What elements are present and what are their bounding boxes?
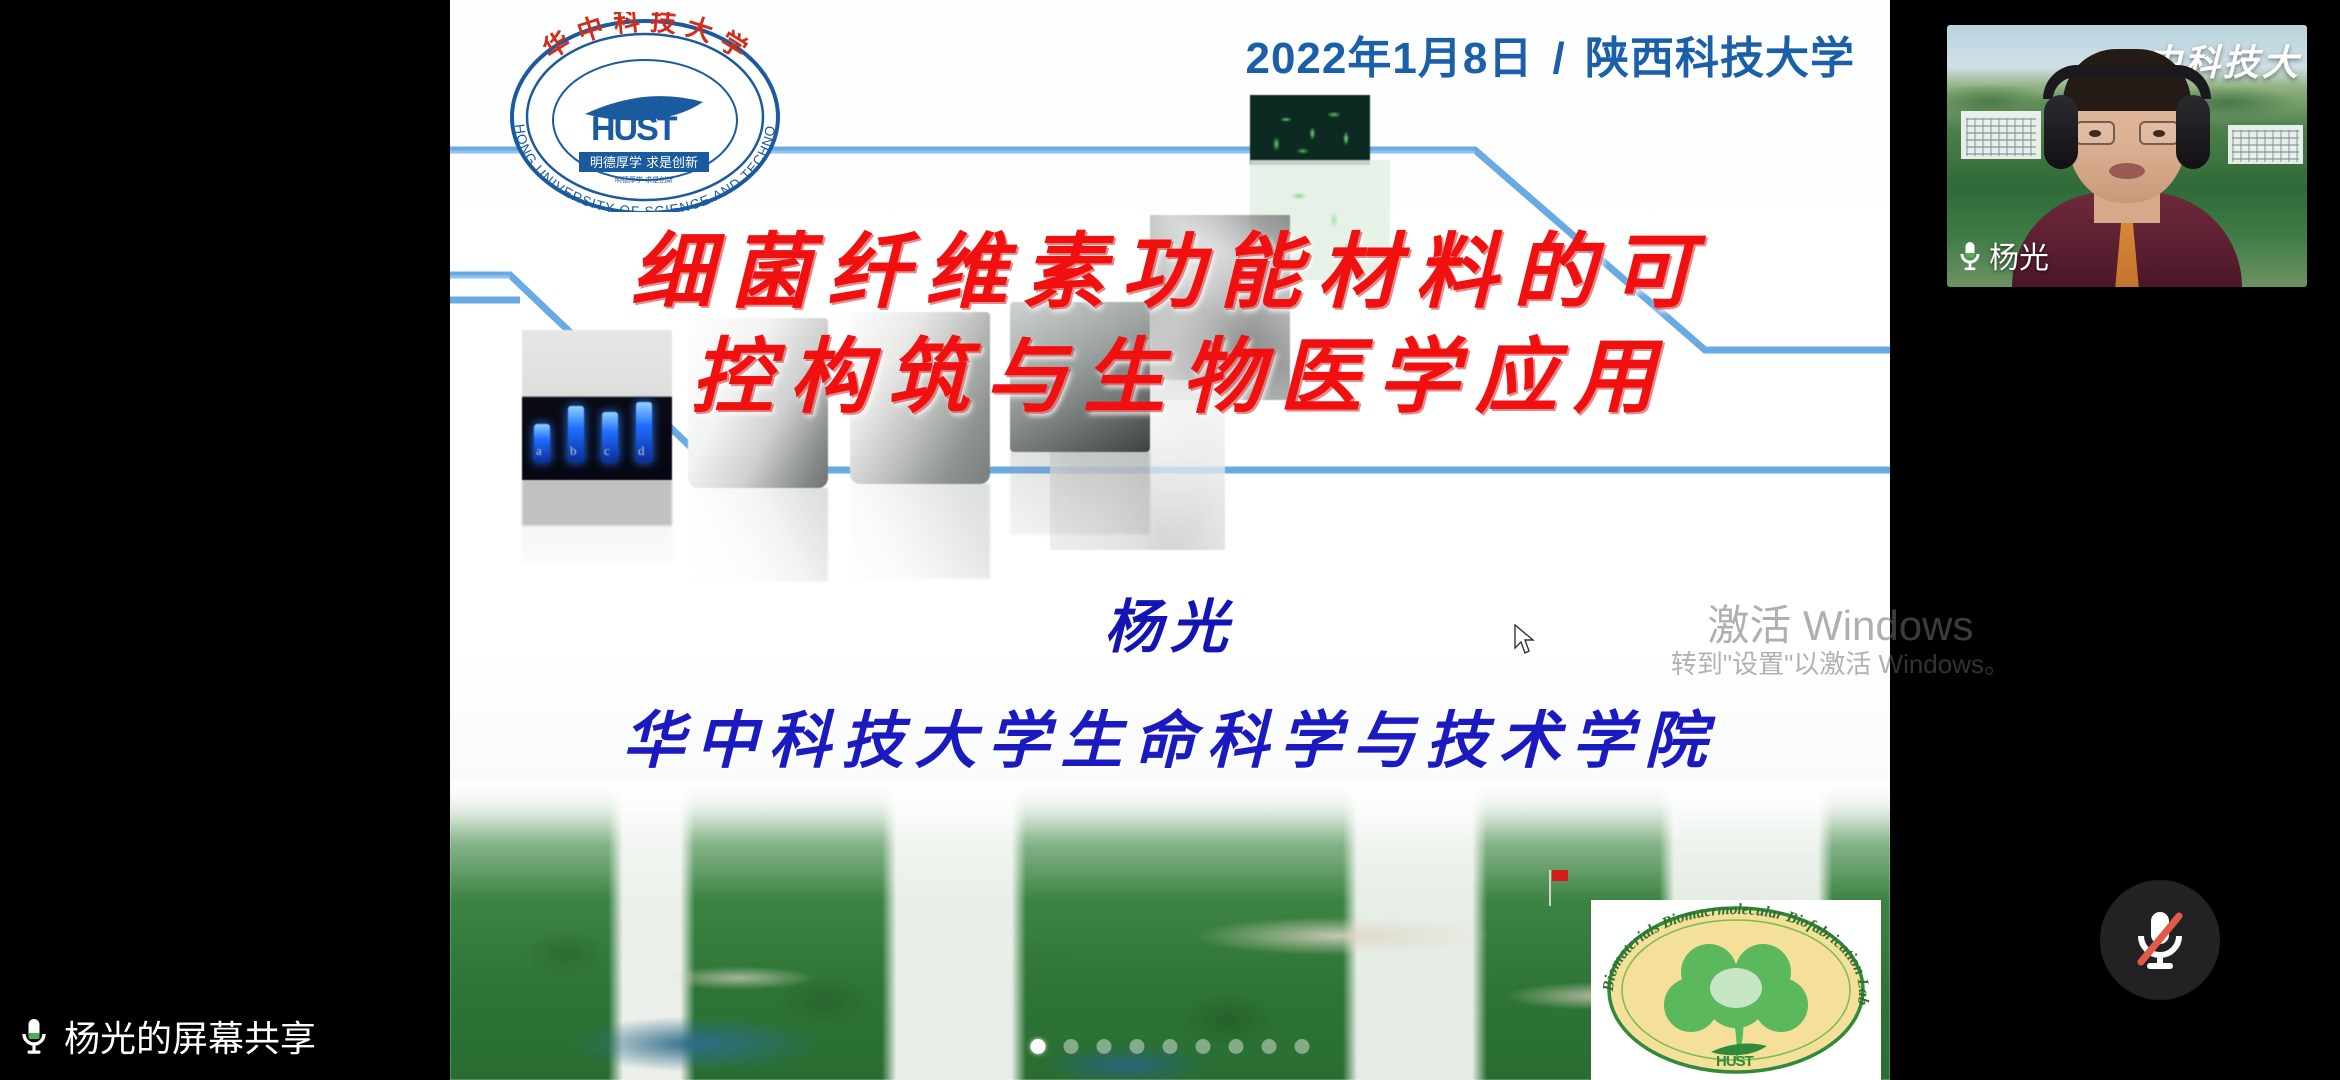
pagination-dot-2[interactable] bbox=[1064, 1039, 1079, 1054]
participant-video-thumbnail[interactable]: 中科技大 bbox=[1947, 25, 2307, 287]
microphone-icon bbox=[1957, 239, 1983, 271]
slide-title-line-2: 控构筑与生物医学应用 bbox=[450, 325, 1890, 430]
microphone-icon bbox=[18, 1016, 50, 1056]
presenter-name: 杨光 bbox=[450, 580, 1890, 664]
mouse-cursor bbox=[1513, 624, 1535, 656]
gel-label-c: c bbox=[604, 443, 610, 459]
headphone-band bbox=[2043, 65, 2211, 99]
pagination-dot-6[interactable] bbox=[1196, 1039, 1211, 1054]
headphone-earcup-left bbox=[2044, 95, 2078, 169]
participant-name-label: 杨光 bbox=[1989, 233, 2049, 277]
mute-toggle-button[interactable] bbox=[2100, 880, 2220, 1000]
gel-label-d: d bbox=[638, 443, 645, 459]
participant-glasses bbox=[2075, 121, 2179, 145]
bacteria-micrograph-thumb bbox=[1250, 95, 1370, 165]
participant-mouth bbox=[2109, 163, 2145, 179]
pagination-dot-8[interactable] bbox=[1262, 1039, 1277, 1054]
screen-share-status: 杨光的屏幕共享 bbox=[18, 1010, 316, 1062]
biofabrication-lab-logo: Biomaterials Biomacrmolecular Biofabrica… bbox=[1591, 900, 1881, 1080]
gel-label-b: b bbox=[570, 443, 577, 459]
screen-share-label: 杨光的屏幕共享 bbox=[64, 1010, 316, 1062]
slide-title: 细菌纤维素功能材料的可 控构筑与生物医学应用 bbox=[450, 220, 1890, 430]
slide-pagination-dots[interactable] bbox=[1031, 1039, 1310, 1054]
headphone-earcup-right bbox=[2176, 95, 2210, 169]
gel-label-a: a bbox=[536, 443, 542, 459]
microphone-muted-icon bbox=[2129, 904, 2191, 976]
svg-text:HUST: HUST bbox=[1716, 1053, 1754, 1070]
background-building-right bbox=[2228, 125, 2304, 164]
slide-title-line-1: 细菌纤维素功能材料的可 bbox=[450, 220, 1890, 325]
meeting-window: 华 中 科 技 大 学 HUAZHONG UNIVERSITY OF SCIEN… bbox=[0, 0, 2340, 1080]
participant-name-badge: 杨光 bbox=[1957, 233, 2049, 277]
pagination-dot-9[interactable] bbox=[1295, 1039, 1310, 1054]
pagination-dot-3[interactable] bbox=[1097, 1039, 1112, 1054]
china-flag bbox=[1552, 870, 1568, 881]
flagpole bbox=[1549, 870, 1551, 906]
pagination-dot-7[interactable] bbox=[1229, 1039, 1244, 1054]
participant-figure bbox=[2022, 72, 2232, 287]
pagination-dot-1[interactable] bbox=[1031, 1039, 1046, 1054]
presenter-affiliation: 华中科技大学生命科学与技术学院 bbox=[450, 690, 1890, 780]
shared-screen-slide[interactable]: 华 中 科 技 大 学 HUAZHONG UNIVERSITY OF SCIEN… bbox=[450, 0, 1890, 1080]
pagination-dot-4[interactable] bbox=[1130, 1039, 1145, 1054]
pagination-dot-5[interactable] bbox=[1163, 1039, 1178, 1054]
